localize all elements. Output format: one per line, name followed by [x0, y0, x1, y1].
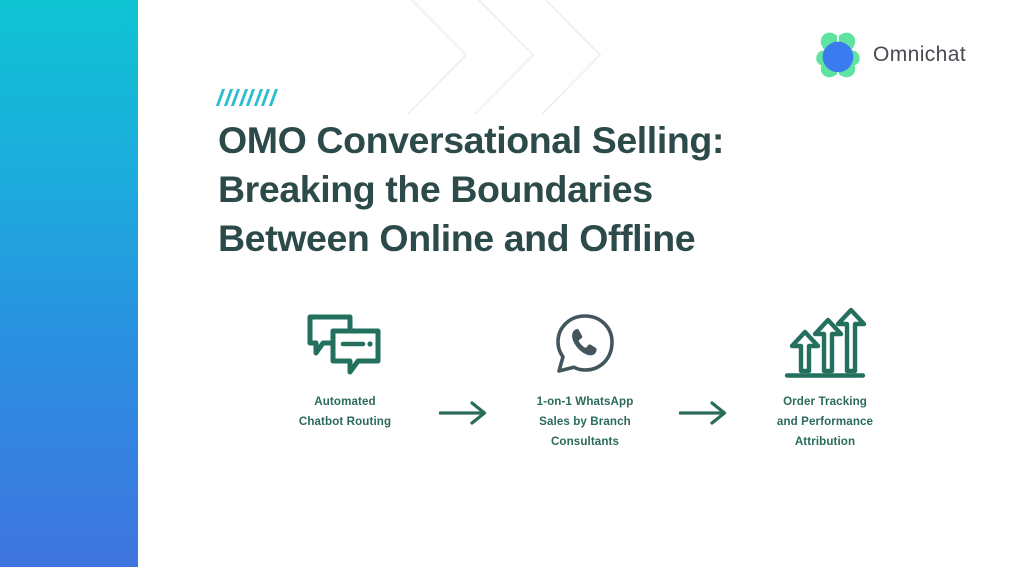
arrow-right-icon — [679, 401, 731, 425]
flow-arrow-1 — [434, 305, 496, 425]
flow-step-label: Order Tracking and Performance Attributi… — [777, 392, 873, 452]
brand-logo: Omnichat — [815, 31, 966, 79]
background-chevrons-decoration — [398, 0, 648, 116]
left-gradient-bar — [0, 0, 138, 567]
flow-step-order-tracking: Order Tracking and Performance Attributi… — [745, 305, 905, 452]
flow-arrow-2 — [674, 305, 736, 425]
slide-canvas: OMO Conversational Selling: Breaking the… — [0, 0, 1023, 572]
page-title: OMO Conversational Selling: Breaking the… — [218, 116, 918, 263]
flow-step-automated-chatbot-routing: Automated Chatbot Routing — [265, 305, 425, 432]
slashes-decoration — [219, 89, 299, 109]
flow-step-label: 1-on-1 WhatsApp Sales by Branch Consulta… — [537, 392, 634, 452]
flow-step-label: Automated Chatbot Routing — [299, 392, 391, 432]
flow-step-whatsapp-sales: 1-on-1 WhatsApp Sales by Branch Consulta… — [505, 305, 665, 452]
chat-bubbles-icon — [306, 305, 384, 383]
omnichat-clover-logo-icon — [815, 31, 861, 79]
flow-steps: Automated Chatbot Routing 1-on-1 WhatsAp… — [265, 305, 905, 452]
whatsapp-icon — [554, 305, 616, 383]
arrow-right-icon — [439, 401, 491, 425]
growth-arrows-chart-icon — [783, 305, 867, 383]
brand-name-text: Omnichat — [873, 43, 966, 67]
